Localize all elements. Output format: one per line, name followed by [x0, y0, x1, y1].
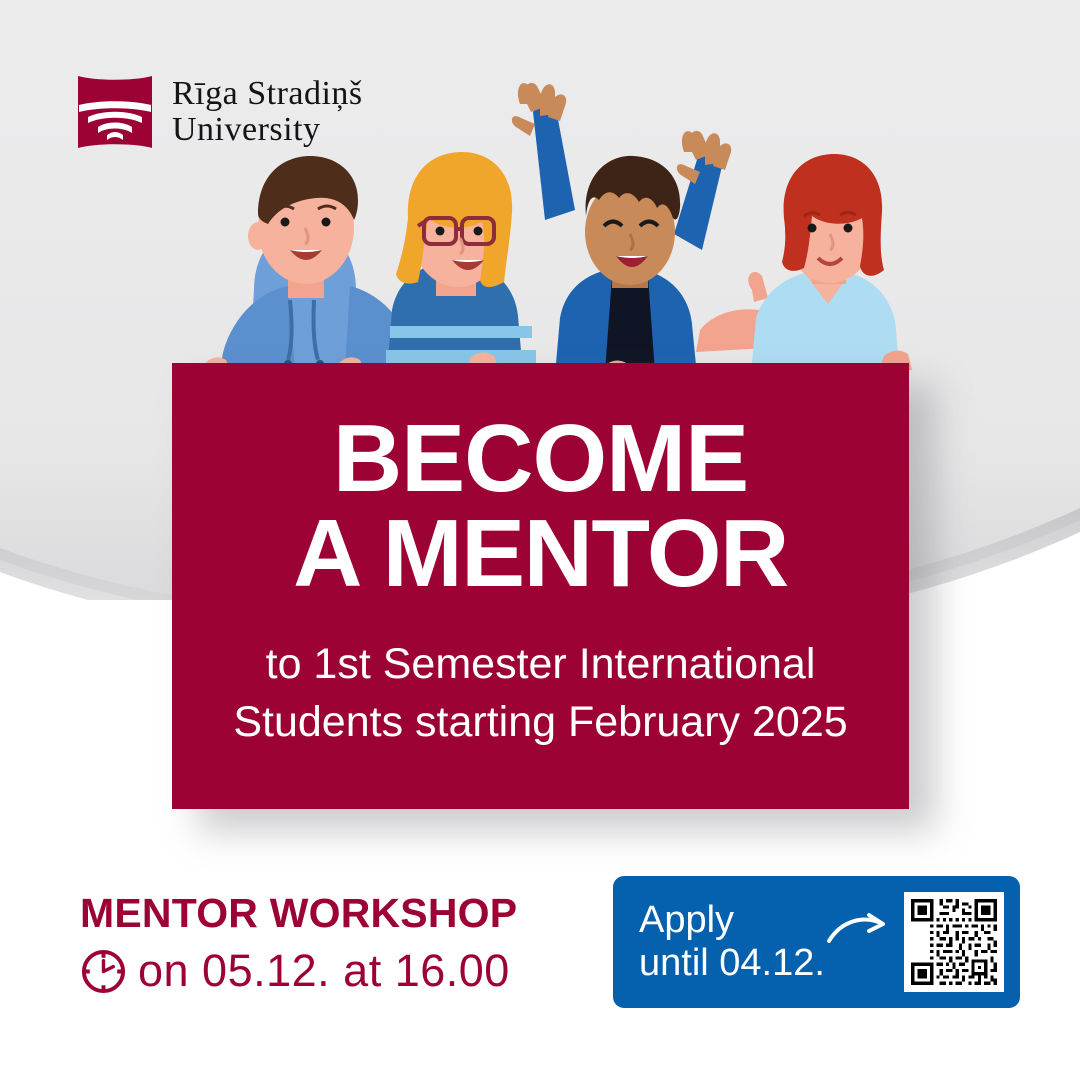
clock-icon	[80, 948, 127, 995]
workshop-datetime: on 05.12. at 16.00	[138, 948, 510, 993]
apply-box[interactable]: Apply until 04.12.	[613, 876, 1020, 1008]
apply-line-1: Apply	[639, 899, 831, 942]
apply-line-2: until 04.12.	[639, 942, 831, 985]
apply-text: Apply until 04.12.	[613, 899, 831, 986]
person-2	[384, 152, 538, 387]
workshop-info: MENTOR WORKSHOP on 05.12. at 16.00	[80, 893, 517, 995]
person-1	[204, 156, 418, 386]
banner-headline: BECOME A MENTOR	[210, 405, 871, 601]
banner-subtext-line-1: to 1st Semester International	[266, 640, 816, 688]
main-banner: BECOME A MENTOR to 1st Semester Internat…	[172, 363, 909, 809]
workshop-title: MENTOR WORKSHOP	[80, 893, 517, 934]
person-3	[554, 156, 698, 386]
banner-subtext: to 1st Semester International Students s…	[210, 601, 871, 751]
banner-headline-line-1: BECOME	[333, 405, 748, 512]
curved-arrow-right-icon	[825, 909, 891, 949]
banner-headline-line-2: A MENTOR	[210, 506, 871, 601]
qr-code[interactable]	[904, 892, 1004, 992]
poster: Rīga Stradiņš University	[0, 0, 1080, 1080]
workshop-datetime-row: on 05.12. at 16.00	[80, 946, 517, 995]
banner-subtext-line-2: Students starting February 2025	[210, 693, 871, 751]
